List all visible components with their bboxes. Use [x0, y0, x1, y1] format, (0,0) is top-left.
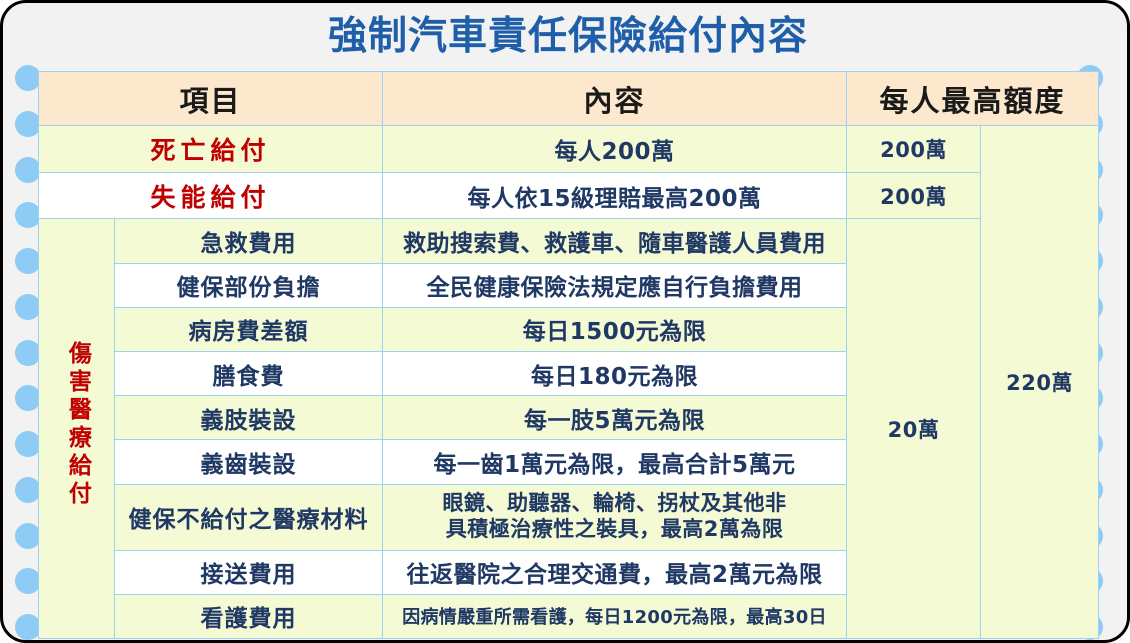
row-content-transport: 往返醫院之合理交通費，最高2萬元為限: [383, 550, 847, 594]
row-amount-death: 200萬: [847, 126, 981, 173]
row-content-copay: 全民健康保險法規定應自行負擔費用: [383, 263, 847, 307]
content-line-2: 具積極治療性之裝具，最高2萬為限: [387, 517, 842, 543]
row-content-death: 每人200萬: [383, 126, 847, 173]
row-item-nursing: 看護費用: [115, 594, 383, 638]
row-content-nursing: 因病情嚴重所需看護，每日1200元為限，最高30日: [383, 594, 847, 638]
row-item-prosthetic-limb: 義肢裝設: [115, 396, 383, 440]
table-row: 失能給付 每人依15級理賠最高200萬 200萬: [39, 172, 1099, 219]
table-body: 死亡給付 每人200萬 200萬 220萬 失能給付 每人依15級理賠最高200…: [39, 126, 1099, 639]
header-max-per-person: 每人最高額度: [847, 72, 1099, 126]
content-line-1: 眼鏡、助聽器、輪椅、拐杖及其他非: [387, 491, 842, 517]
row-content-emergency: 救助搜索費、救護車、隨車醫護人員費用: [383, 219, 847, 263]
table-row: 死亡給付 每人200萬 200萬 220萬: [39, 126, 1099, 173]
header-content: 內容: [383, 72, 847, 126]
row-content-disability: 每人依15級理賠最高200萬: [383, 172, 847, 219]
row-item-ward: 病房費差額: [115, 307, 383, 351]
group-label-text: 傷害醫療給付: [64, 341, 90, 509]
header-item: 項目: [39, 72, 383, 126]
total-amount-cell: 220萬: [981, 126, 1099, 639]
row-item-emergency: 急救費用: [115, 219, 383, 263]
row-item-death: 死亡給付: [39, 126, 383, 173]
row-content-dentures: 每一齒1萬元為限，最高合計5萬元: [383, 440, 847, 484]
row-item-dentures: 義齒裝設: [115, 440, 383, 484]
row-content-uncovered-materials: 眼鏡、助聽器、輪椅、拐杖及其他非 具積極治療性之裝具，最高2萬為限: [383, 484, 847, 550]
group-label-medical: 傷害醫療給付: [39, 219, 115, 639]
table-row: 傷害醫療給付 急救費用 救助搜索費、救護車、隨車醫護人員費用 20萬: [39, 219, 1099, 263]
row-amount-disability: 200萬: [847, 172, 981, 219]
row-item-copay: 健保部份負擔: [115, 263, 383, 307]
row-item-uncovered-materials: 健保不給付之醫療材料: [115, 484, 383, 550]
infographic-page: 強制汽車責任保險給付內容 項目 內容 每人最高額度 死亡給付 每人200萬 20…: [0, 0, 1130, 643]
row-content-meals: 每日180元為限: [383, 352, 847, 396]
benefits-table-wrap: 項目 內容 每人最高額度 死亡給付 每人200萬 200萬 220萬 失能給付 …: [38, 71, 1098, 639]
table-header-row: 項目 內容 每人最高額度: [39, 72, 1099, 126]
page-title: 強制汽車責任保險給付內容: [3, 11, 1130, 63]
row-item-transport: 接送費用: [115, 550, 383, 594]
benefits-table: 項目 內容 每人最高額度 死亡給付 每人200萬 200萬 220萬 失能給付 …: [38, 71, 1099, 639]
row-content-ward: 每日1500元為限: [383, 307, 847, 351]
row-content-prosthetic-limb: 每一肢5萬元為限: [383, 396, 847, 440]
row-item-disability: 失能給付: [39, 172, 383, 219]
row-item-meals: 膳食費: [115, 352, 383, 396]
medical-subtotal-cell: 20萬: [847, 219, 981, 639]
